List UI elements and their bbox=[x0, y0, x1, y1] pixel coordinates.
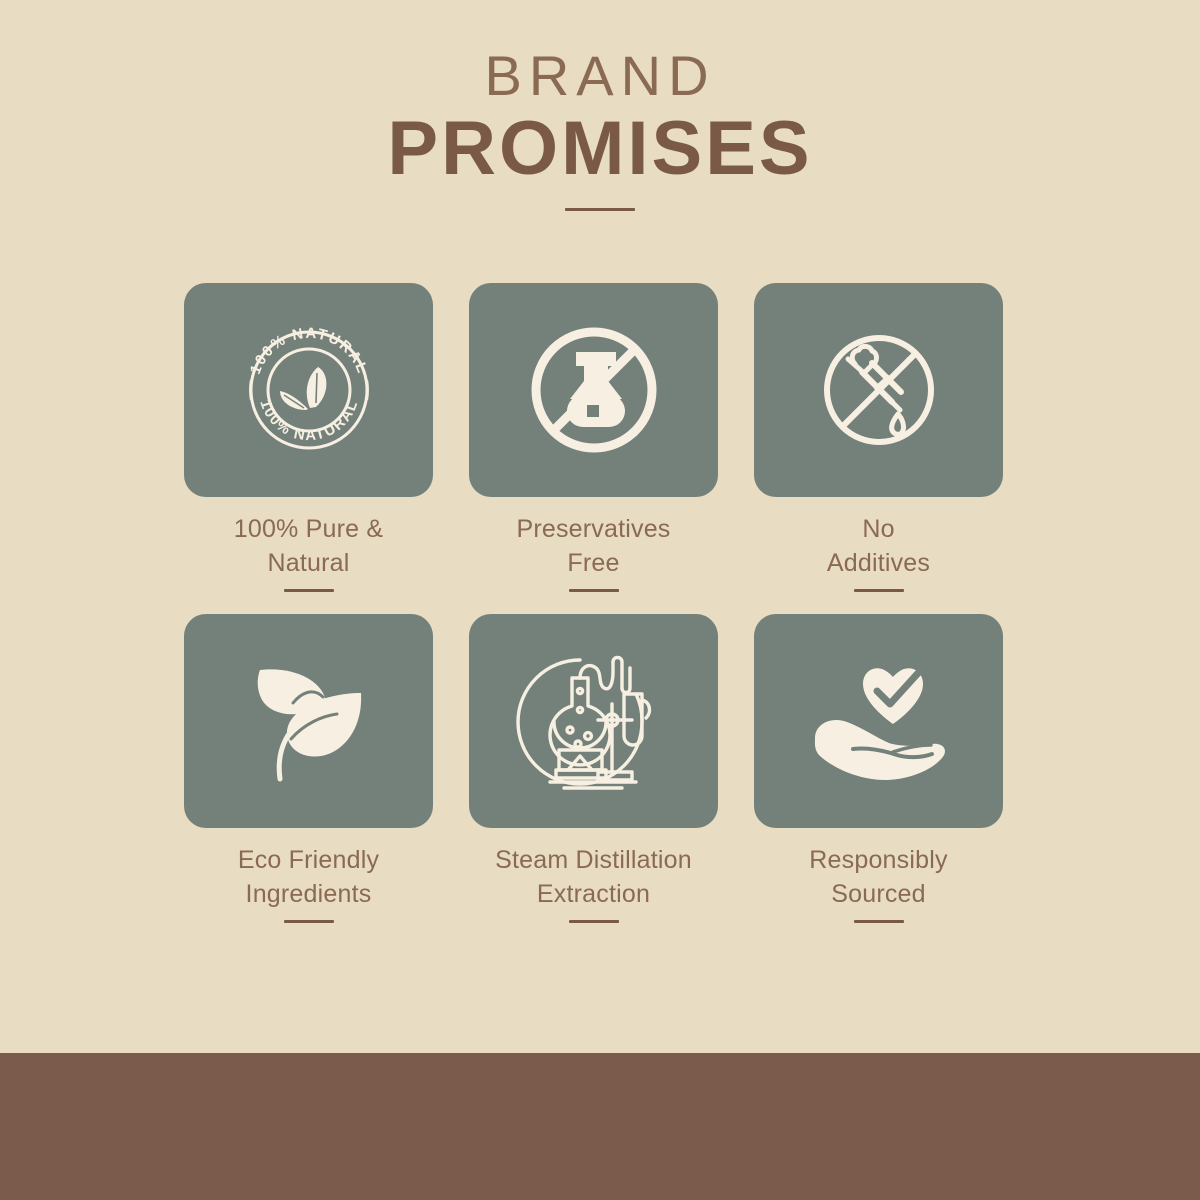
no-flask-icon bbox=[519, 315, 669, 465]
page-title-top: BRAND bbox=[0, 48, 1200, 104]
promise-caption: Responsibly Sourced bbox=[809, 843, 947, 911]
promises-grid: 100% NATURAL 100% NATURAL 100% Pure & Na… bbox=[184, 283, 1022, 923]
promise-card-preservatives-free[interactable]: Preservatives Free bbox=[469, 283, 718, 592]
promise-icon-tile bbox=[754, 614, 1003, 828]
promise-card-no-additives[interactable]: No Additives bbox=[754, 283, 1003, 592]
caption-underline-rule bbox=[569, 589, 619, 592]
caption-underline-rule bbox=[854, 589, 904, 592]
promise-caption: Steam Distillation Extraction bbox=[495, 843, 692, 911]
promise-caption: No Additives bbox=[827, 512, 930, 580]
hand-heart-check-icon bbox=[789, 646, 969, 796]
promise-card-pure-natural[interactable]: 100% NATURAL 100% NATURAL 100% Pure & Na… bbox=[184, 283, 433, 592]
two-leaves-icon bbox=[229, 646, 389, 796]
promise-caption: Preservatives Free bbox=[516, 512, 670, 580]
page-header: BRAND PROMISES bbox=[0, 0, 1200, 211]
promise-icon-tile bbox=[184, 614, 433, 828]
promise-caption: Eco Friendly Ingredients bbox=[238, 843, 379, 911]
promise-card-steam-distillation[interactable]: Steam Distillation Extraction bbox=[469, 614, 718, 923]
caption-underline-rule bbox=[569, 920, 619, 923]
natural-stamp-icon: 100% NATURAL 100% NATURAL bbox=[234, 315, 384, 465]
caption-underline-rule bbox=[284, 589, 334, 592]
caption-underline-rule bbox=[284, 920, 334, 923]
title-underline-rule bbox=[565, 208, 635, 211]
footer-brown-band bbox=[0, 1053, 1200, 1200]
promise-icon-tile bbox=[469, 614, 718, 828]
page-title-bottom: PROMISES bbox=[0, 104, 1200, 194]
no-dropper-icon bbox=[804, 315, 954, 465]
caption-underline-rule bbox=[854, 920, 904, 923]
promise-icon-tile bbox=[754, 283, 1003, 497]
distillation-apparatus-icon bbox=[514, 644, 674, 799]
promise-icon-tile: 100% NATURAL 100% NATURAL bbox=[184, 283, 433, 497]
promise-caption: 100% Pure & Natural bbox=[234, 512, 384, 580]
promise-icon-tile bbox=[469, 283, 718, 497]
promise-card-eco-friendly[interactable]: Eco Friendly Ingredients bbox=[184, 614, 433, 923]
promise-card-responsibly-sourced[interactable]: Responsibly Sourced bbox=[754, 614, 1003, 923]
